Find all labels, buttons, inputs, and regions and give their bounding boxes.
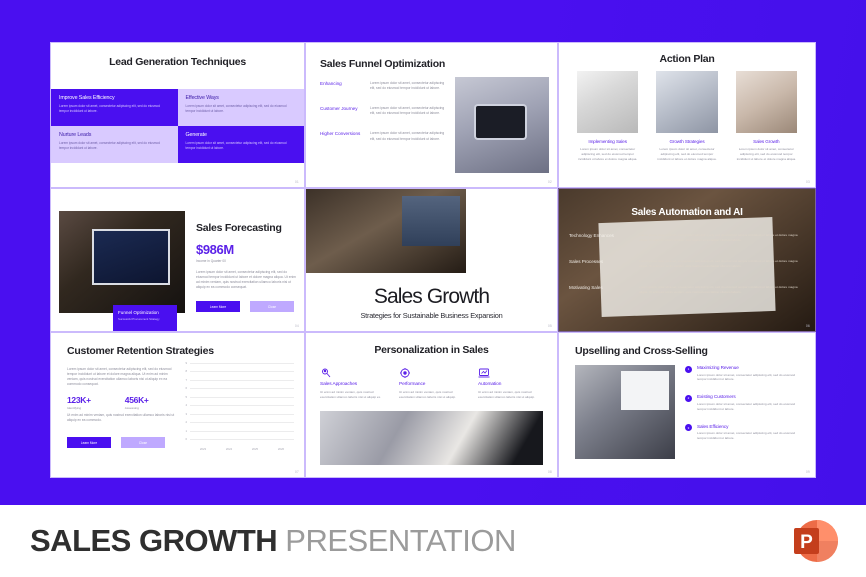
- chart-y-tick: 7: [185, 378, 187, 382]
- list-item: Higher Conversions Lorem ipsum dolor sit…: [320, 131, 448, 141]
- close-button[interactable]: Close: [250, 301, 294, 312]
- slide-sales-forecasting[interactable]: Funnel Optimization Successful Procureme…: [50, 188, 305, 332]
- footer-bar: SALES GROWTH PRESENTATION P: [0, 505, 866, 577]
- slide-page-number: 03: [806, 180, 810, 184]
- slide-title: Sales Forecasting: [196, 222, 282, 234]
- card-image: [656, 71, 717, 133]
- card-heading: Performance: [399, 382, 464, 387]
- target-cycle-icon: [399, 366, 411, 378]
- card-body: Ut enim ad minim veniam, quis nostrud ex…: [478, 390, 543, 400]
- stat-item: 456K+ Assessing: [125, 395, 149, 410]
- slide-customer-retention[interactable]: Customer Retention Strategies Lorem ipsu…: [50, 332, 305, 478]
- row-label: Customer Journey: [320, 106, 364, 116]
- card-heading: Sales Growth: [736, 139, 797, 144]
- quadrant-cell[interactable]: Generate Lorem ipsum dolor sit amet, con…: [178, 126, 305, 163]
- slide-title: Sales Automation and AI: [559, 207, 815, 218]
- list-item: 1 Maximizing Revenue Lorem ipsum dolor s…: [685, 365, 805, 382]
- chart-x-tick: 2024: [222, 447, 236, 451]
- powerpoint-icon: P: [788, 515, 840, 567]
- list-item: 3 Sales Efficiency Lorem ipsum dolor sit…: [685, 424, 805, 441]
- list-item: Sales Growth Lorem ipsum dolor sit amet,…: [736, 71, 797, 162]
- cell-body: Lorem ipsum dolor sit amet, consectetur …: [186, 104, 297, 114]
- item-body: Lorem ipsum dolor sit amet, consectetur …: [697, 373, 805, 383]
- slide-sales-funnel[interactable]: Sales Funnel Optimization Enhancing Lore…: [305, 42, 558, 188]
- item-heading: Existing Customers: [697, 394, 805, 399]
- slide-action-plan[interactable]: Action Plan Implementing Sales Lorem ips…: [558, 42, 816, 188]
- slide-page-number: 06: [806, 324, 810, 328]
- slide-image: [320, 411, 543, 465]
- slide-page-number: 08: [548, 470, 552, 474]
- chart-y-tick: 9: [185, 361, 187, 365]
- slide-title: Upselling and Cross-Selling: [575, 345, 708, 357]
- chart-y-tick: 8: [185, 369, 187, 373]
- row-body: Lorem ipsum dolor sit amet, consectetur …: [639, 233, 803, 243]
- item-body: Lorem ipsum dolor sit amet, consectetur …: [697, 402, 805, 412]
- title-bold: SALES GROWTH: [30, 523, 277, 558]
- kpi-value: $986M: [196, 242, 234, 257]
- list-item: Enhancing Lorem ipsum dolor sit amet, co…: [320, 81, 448, 91]
- row-body: Lorem ipsum dolor sit amet, consectetur …: [639, 285, 803, 295]
- card-heading: Growth Strategies: [656, 139, 717, 144]
- funnel-row-list: Enhancing Lorem ipsum dolor sit amet, co…: [320, 81, 448, 157]
- row-label: Motivating Sales: [569, 285, 631, 295]
- slide-page-number: 02: [548, 180, 552, 184]
- item-body: Lorem ipsum dolor sit amet, consectetur …: [697, 431, 805, 441]
- slide-image: [455, 77, 549, 173]
- chart-y-tick: 4: [185, 403, 187, 407]
- list-item: Customer Journey Lorem ipsum dolor sit a…: [320, 106, 448, 116]
- row-label: Sales Processes: [569, 259, 631, 269]
- slide-title: Action Plan: [559, 53, 815, 65]
- chart-y-tick: 2: [185, 420, 187, 424]
- row-body: Lorem ipsum dolor sit amet, consectetur …: [639, 259, 803, 269]
- row-label: Enhancing: [320, 81, 364, 91]
- slide-lead-generation[interactable]: Lead Generation Techniques Improve Sales…: [50, 42, 305, 188]
- slide-image: [575, 365, 675, 459]
- card-image: [577, 71, 638, 133]
- slide-title: Sales Funnel Optimization: [320, 58, 445, 70]
- quadrant-cell[interactable]: Nurture Leads Lorem ipsum dolor sit amet…: [51, 126, 178, 163]
- list-item: Automation Ut enim ad minim veniam, quis…: [478, 366, 543, 400]
- row-label: Higher Conversions: [320, 131, 364, 141]
- button-row: Learn More Close: [67, 437, 165, 448]
- card-body: Ut enim ad minim veniam, quis nostrud ex…: [320, 390, 385, 400]
- slide-page-number: 09: [806, 470, 810, 474]
- retention-bar-chart: 0123456789 2023202420252026: [178, 361, 296, 453]
- slide-title: Lead Generation Techniques: [51, 56, 304, 68]
- chart-y-tick: 3: [185, 412, 187, 416]
- stat-number: 456K+: [125, 395, 149, 405]
- learn-more-button[interactable]: Learn More: [196, 301, 240, 312]
- list-item: Technology Enhances Lorem ipsum dolor si…: [569, 233, 803, 243]
- chart-x-tick: 2025: [248, 447, 262, 451]
- chart-y-axis: 0123456789: [178, 363, 189, 439]
- row-body: Lorem ipsum dolor sit amet, consectetur …: [370, 81, 448, 91]
- stat-row: 123K+ Identifying 456K+ Assessing: [67, 395, 149, 410]
- close-button[interactable]: Close: [121, 437, 165, 448]
- quadrant-cell[interactable]: Improve Sales Efficiency Lorem ipsum dol…: [51, 89, 178, 126]
- slide-personalization[interactable]: Personalization in Sales Sales Approache…: [305, 332, 558, 478]
- slide-lead-text: Lorem ipsum dolor sit amet, consectetur …: [67, 367, 177, 387]
- chart-y-tick: 6: [185, 386, 187, 390]
- row-body: Lorem ipsum dolor sit amet, consectetur …: [370, 131, 448, 141]
- quadrant-grid: Improve Sales Efficiency Lorem ipsum dol…: [51, 89, 304, 163]
- chart-y-tick: 5: [185, 395, 187, 399]
- callout-badge: Funnel Optimization Successful Procureme…: [113, 305, 177, 331]
- list-marker-icon: 3: [685, 424, 692, 431]
- quadrant-cell[interactable]: Effective Ways Lorem ipsum dolor sit ame…: [178, 89, 305, 126]
- slide-sales-automation-ai[interactable]: Sales Automation and AI Technology Enhan…: [558, 188, 816, 332]
- card-body: Lorem ipsum dolor sit amet, consectetur …: [577, 147, 638, 162]
- cover-subtitle: Strategies for Sustainable Business Expa…: [306, 311, 557, 320]
- chart-plot-area: [190, 363, 294, 439]
- list-item: Implementing Sales Lorem ipsum dolor sit…: [577, 71, 638, 162]
- page-title: SALES GROWTH PRESENTATION: [30, 523, 516, 559]
- card-body: Ut enim ad minim veniam, quis nostrud ex…: [399, 390, 464, 400]
- slide-page-number: 07: [295, 470, 299, 474]
- card-body: Lorem ipsum dolor sit amet, consectetur …: [656, 147, 717, 162]
- cell-heading: Generate: [186, 132, 297, 138]
- list-item: Sales Approaches Ut enim ad minim veniam…: [320, 366, 385, 400]
- stat-number: 123K+: [67, 395, 91, 405]
- purple-backdrop: Lead Generation Techniques Improve Sales…: [0, 0, 866, 505]
- badge-title: Funnel Optimization: [118, 310, 172, 315]
- card-heading: Automation: [478, 382, 543, 387]
- chart-y-tick: 1: [185, 429, 187, 433]
- row-body: Lorem ipsum dolor sit amet, consectetur …: [370, 106, 448, 116]
- list-marker-icon: 1: [685, 366, 692, 373]
- stat-item: 123K+ Identifying: [67, 395, 91, 410]
- list-item: Growth Strategies Lorem ipsum dolor sit …: [656, 71, 717, 162]
- stat-caption: Assessing: [125, 406, 149, 410]
- card-heading: Implementing Sales: [577, 139, 638, 144]
- slide-page-number: 01: [295, 180, 299, 184]
- button-row: Learn More Close: [196, 301, 294, 312]
- slide-grid: Lead Generation Techniques Improve Sales…: [50, 42, 816, 478]
- slide-title: Personalization in Sales: [306, 344, 557, 356]
- numbered-list: 1 Maximizing Revenue Lorem ipsum dolor s…: [685, 365, 805, 453]
- learn-more-button[interactable]: Learn More: [67, 437, 111, 448]
- card-image: [736, 71, 797, 133]
- card-heading: Sales Approaches: [320, 382, 385, 387]
- chart-y-tick: 0: [185, 437, 187, 441]
- slide-body-text: Lorem ipsum dolor sit amet, consectetur …: [196, 270, 296, 290]
- cell-body: Lorem ipsum dolor sit amet, consectetur …: [186, 141, 297, 151]
- row-label: Technology Enhances: [569, 233, 631, 243]
- slide-title: Customer Retention Strategies: [67, 345, 214, 357]
- chart-bars: [190, 363, 294, 439]
- cell-heading: Nurture Leads: [59, 132, 170, 138]
- slide-image: [306, 189, 466, 273]
- cell-body: Lorem ipsum dolor sit amet, consectetur …: [59, 141, 170, 151]
- title-light: PRESENTATION: [277, 523, 516, 558]
- chart-gridline: [190, 439, 294, 440]
- slide-page-number: 04: [295, 324, 299, 328]
- laptop-trend-icon: [478, 366, 490, 378]
- chart-x-tick: 2026: [274, 447, 288, 451]
- slide-upselling-cross-selling[interactable]: Upselling and Cross-Selling 1 Maximizing…: [558, 332, 816, 478]
- magnifier-person-icon: [320, 366, 332, 378]
- card-body: Lorem ipsum dolor sit amet, consectetur …: [736, 147, 797, 162]
- list-item: Motivating Sales Lorem ipsum dolor sit a…: [569, 285, 803, 295]
- list-item: 2 Existing Customers Lorem ipsum dolor s…: [685, 394, 805, 411]
- slide-sales-growth-cover[interactable]: Sales Growth Strategies for Sustainable …: [305, 188, 558, 332]
- item-heading: Sales Efficiency: [697, 424, 805, 429]
- card-row: Implementing Sales Lorem ipsum dolor sit…: [577, 71, 797, 162]
- cell-body: Lorem ipsum dolor sit amet, consectetur …: [59, 104, 170, 114]
- slide-image: [59, 211, 185, 313]
- presentation-preview-page: Lead Generation Techniques Improve Sales…: [0, 0, 866, 577]
- list-marker-icon: 2: [685, 395, 692, 402]
- cell-heading: Improve Sales Efficiency: [59, 95, 170, 101]
- item-heading: Maximizing Revenue: [697, 365, 805, 370]
- slide-body-text: Ut enim ad minim veniam, quis nostrud ex…: [67, 413, 175, 423]
- card-row: Sales Approaches Ut enim ad minim veniam…: [320, 366, 543, 400]
- slide-page-number: 05: [548, 324, 552, 328]
- cell-heading: Effective Ways: [186, 95, 297, 101]
- list-item: Performance Ut enim ad minim veniam, qui…: [399, 366, 464, 400]
- chart-x-tick: 2023: [196, 447, 210, 451]
- svg-text:P: P: [800, 532, 813, 553]
- kpi-caption: Income in Quarter 00: [196, 259, 226, 263]
- chart-x-axis: 2023202420252026: [190, 447, 294, 451]
- automation-row-list: Technology Enhances Lorem ipsum dolor si…: [569, 233, 803, 311]
- stat-caption: Identifying: [67, 406, 91, 410]
- badge-subtitle: Successful Procurement Strategy: [118, 317, 172, 321]
- whiteboard-graphic: [621, 371, 669, 410]
- list-item: Sales Processes Lorem ipsum dolor sit am…: [569, 259, 803, 269]
- laptop-screen-graphic: [92, 229, 170, 285]
- cover-title: Sales Growth: [306, 285, 557, 309]
